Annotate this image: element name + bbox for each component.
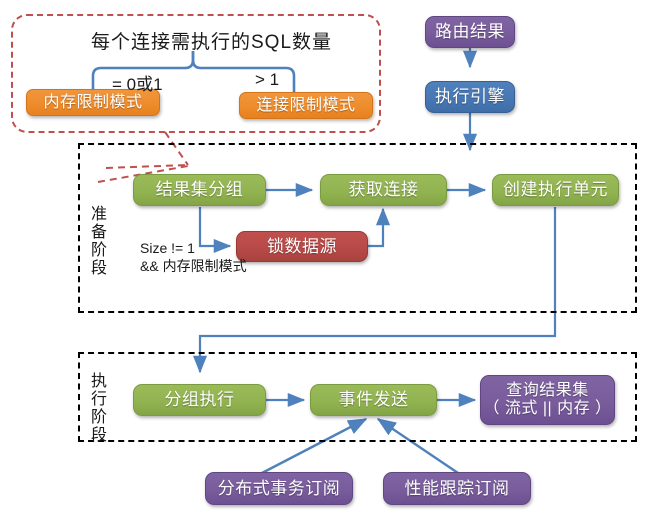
branch-label-right: > 1 [255, 70, 279, 90]
query-result-line-2: （ 流式 || 内存 ） [483, 400, 611, 418]
node-group-execute[interactable]: 分组执行 [133, 384, 266, 416]
prepare-phase-label: 准备阶段 [88, 205, 104, 277]
callout-title: 每个连接需执行的SQL数量 [91, 27, 332, 54]
node-group-result-set[interactable]: 结果集分组 [133, 174, 266, 206]
node-route-result[interactable]: 路由结果 [425, 16, 515, 48]
prepare-phase-container [78, 143, 637, 313]
node-get-connection[interactable]: 获取连接 [320, 174, 447, 206]
node-event-send[interactable]: 事件发送 [310, 384, 437, 416]
node-performance-trace-subscriber[interactable]: 性能跟踪订阅 [383, 472, 531, 505]
execute-phase-label: 执行阶段 [88, 372, 104, 444]
node-execution-engine[interactable]: 执行引擎 [425, 81, 515, 113]
node-create-execution-unit[interactable]: 创建执行单元 [492, 174, 619, 206]
prepare-condition-note: Size != 1 && 内存限制模式 [140, 240, 247, 275]
node-distributed-tx-subscriber[interactable]: 分布式事务订阅 [205, 472, 353, 505]
node-connection-limit-mode[interactable]: 连接限制模式 [239, 92, 373, 119]
branch-label-left: = 0或1 [112, 70, 163, 95]
query-result-line-1: 查询结果集 [506, 382, 589, 400]
diagram-canvas: 每个连接需执行的SQL数量 = 0或1 > 1 内存限制模式 连接限制模式 路由… [0, 0, 649, 525]
node-query-result-set[interactable]: 查询结果集 （ 流式 || 内存 ） [480, 375, 615, 425]
node-lock-datasource[interactable]: 锁数据源 [236, 231, 368, 262]
